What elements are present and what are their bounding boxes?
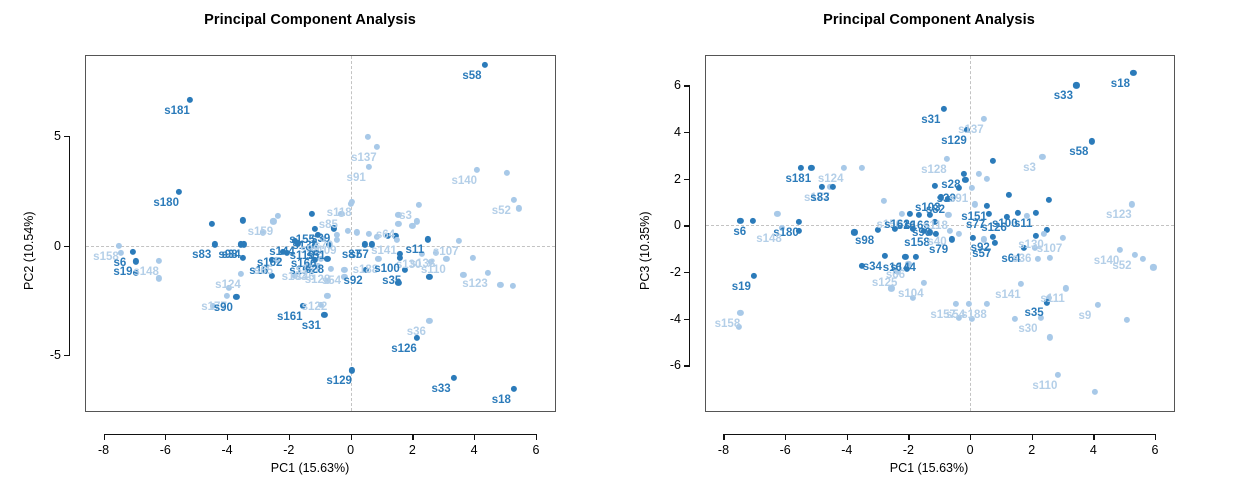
point-label: s58 <box>1069 146 1088 158</box>
x-axis-tick-label: 2 <box>409 443 416 457</box>
data-point-unlabeled <box>1005 192 1011 198</box>
x-axis-tick-label: 4 <box>1090 443 1097 457</box>
data-point <box>882 253 888 259</box>
point-label: s180 <box>153 197 179 209</box>
data-point-unlabeled <box>737 218 743 224</box>
point-label: s65 <box>254 265 273 277</box>
point-label: s34 <box>221 249 240 261</box>
data-point <box>511 196 517 202</box>
data-point-unlabeled <box>1047 334 1053 340</box>
data-point <box>456 238 462 244</box>
y-axis-tick <box>684 179 690 180</box>
reference-line-x0 <box>970 56 971 411</box>
point-label: s181 <box>164 105 190 117</box>
data-point <box>1095 302 1101 308</box>
point-label: s141 <box>995 289 1021 301</box>
x-axis-tick <box>536 434 537 440</box>
x-axis-tick <box>227 434 228 440</box>
y-axis-tick <box>64 355 70 356</box>
data-point-unlabeled <box>497 282 503 288</box>
data-point-unlabeled <box>209 221 215 227</box>
x-axis-tick <box>847 434 848 440</box>
data-point-unlabeled <box>1046 197 1052 203</box>
point-label: s91 <box>347 172 366 184</box>
plot-area-left: s58s181s137s91s140s180s118s3s52s85s159s6… <box>86 56 555 411</box>
data-point <box>1015 209 1021 215</box>
point-label: s31 <box>302 320 321 332</box>
data-point-unlabeled <box>972 201 978 207</box>
data-point <box>270 218 276 224</box>
x-axis-tick-label: -8 <box>98 443 109 457</box>
data-point <box>241 241 247 247</box>
data-point-unlabeled <box>1150 264 1156 270</box>
x-axis-tick-label: 2 <box>1028 443 1035 457</box>
point-label: s110 <box>421 264 446 276</box>
data-point-unlabeled <box>881 198 887 204</box>
x-axis-tick <box>289 434 290 440</box>
data-point <box>968 185 974 191</box>
data-point <box>1062 285 1068 291</box>
data-point <box>374 144 380 150</box>
data-point <box>902 254 908 260</box>
y-axis-tick <box>684 85 690 86</box>
point-label: s122 <box>302 301 328 313</box>
data-point-unlabeled <box>470 254 476 260</box>
data-point <box>841 165 847 171</box>
data-point <box>130 249 136 255</box>
y-axis-tick-label: 0 <box>649 218 681 232</box>
y-axis-tick-label: -5 <box>29 348 61 362</box>
point-label: s110 <box>1032 380 1057 392</box>
point-label: s57 <box>972 248 991 260</box>
point-label: s124 <box>215 279 241 291</box>
x-axis-tick-label: -6 <box>160 443 171 457</box>
data-point <box>945 212 951 218</box>
y-axis-tick <box>684 365 690 366</box>
point-label: s82 <box>926 204 945 216</box>
point-label: s36 <box>1012 253 1031 265</box>
point-label: s148 <box>756 233 782 245</box>
data-point <box>944 156 950 162</box>
data-point <box>366 164 372 170</box>
data-point <box>921 279 927 285</box>
data-point-unlabeled <box>932 183 938 189</box>
pca-panel-pc1-pc3: Principal Component Analysis PC3 (10.35%… <box>620 0 1238 500</box>
data-point <box>482 62 488 68</box>
data-point <box>116 242 122 248</box>
point-label: s19 <box>732 281 751 293</box>
data-point-unlabeled <box>1047 255 1053 261</box>
data-point-unlabeled <box>510 283 516 289</box>
x-axis-tick <box>351 434 352 440</box>
point-label: s79 <box>929 244 948 256</box>
y-axis-tick-label: 6 <box>649 78 681 92</box>
y-axis-tick <box>684 132 690 133</box>
point-label: s129 <box>941 135 967 147</box>
data-point <box>1129 201 1135 207</box>
data-point-unlabeled <box>239 217 245 223</box>
panel-title-left: Principal Component Analysis <box>0 12 620 28</box>
data-point-unlabeled <box>275 213 281 219</box>
y-axis-tick <box>64 246 70 247</box>
point-label: s58 <box>462 70 481 82</box>
y-axis-tick-label: 4 <box>649 125 681 139</box>
x-axis-tick <box>785 434 786 440</box>
x-axis-tick-label: -6 <box>780 443 791 457</box>
data-point <box>176 189 182 195</box>
data-point <box>1018 281 1024 287</box>
data-point <box>796 219 802 225</box>
data-point <box>750 218 756 224</box>
data-point-unlabeled <box>990 158 996 164</box>
x-axis-title-right: PC1 (15.63%) <box>620 461 1238 475</box>
point-label: s28 <box>941 179 960 191</box>
data-point <box>941 106 947 112</box>
data-point <box>1089 138 1095 144</box>
point-label: s35 <box>382 275 401 287</box>
data-point-unlabeled <box>409 223 415 229</box>
point-label: s159 <box>248 226 274 238</box>
point-label: s54 <box>322 275 341 287</box>
data-point-unlabeled <box>976 171 982 177</box>
x-axis-tick <box>474 434 475 440</box>
point-label: s188 <box>961 309 987 321</box>
data-point <box>953 300 959 306</box>
data-point <box>485 270 491 276</box>
data-point <box>751 272 757 278</box>
data-point <box>1130 69 1136 75</box>
point-label: s83 <box>192 249 211 261</box>
data-point <box>1073 82 1079 88</box>
point-label: s137 <box>958 124 984 136</box>
point-label: s137 <box>351 152 377 164</box>
data-point <box>737 310 743 316</box>
point-label: s140 <box>451 175 477 187</box>
x-axis-tick <box>1093 434 1094 440</box>
point-label: s107 <box>1037 243 1063 255</box>
data-point <box>808 165 814 171</box>
data-point <box>324 293 330 299</box>
y-axis-tick-label: 2 <box>649 172 681 186</box>
data-point <box>1059 235 1065 241</box>
data-point-unlabeled <box>774 211 780 217</box>
y-axis-tick <box>684 319 690 320</box>
data-point-unlabeled <box>1092 389 1098 395</box>
x-axis-tick-label: -4 <box>841 443 852 457</box>
point-label: s126 <box>391 343 417 355</box>
x-axis-tick-label: 6 <box>1151 443 1158 457</box>
point-label: s90 <box>214 302 233 314</box>
point-label: s6 <box>733 226 746 238</box>
point-label: s34 <box>863 261 882 273</box>
data-point-unlabeled <box>1035 256 1041 262</box>
point-label: s9 <box>1079 310 1092 322</box>
data-point-unlabeled <box>970 235 976 241</box>
point-label: s123 <box>462 278 488 290</box>
data-point <box>1039 153 1045 159</box>
data-point-unlabeled <box>859 165 865 171</box>
data-point-unlabeled <box>516 205 522 211</box>
y-axis-tick-label: 5 <box>29 129 61 143</box>
point-label: s19 <box>113 266 132 278</box>
y-axis-tick <box>684 272 690 273</box>
y-axis-tick-label: -2 <box>649 265 681 279</box>
data-point-unlabeled <box>354 229 360 235</box>
point-label: s126 <box>981 222 1007 234</box>
data-point <box>233 294 239 300</box>
point-label: s57 <box>350 249 369 261</box>
data-point-unlabeled <box>984 176 990 182</box>
x-axis-tick <box>1155 434 1156 440</box>
x-axis-line <box>723 434 1154 435</box>
x-axis-tick-label: -2 <box>903 443 914 457</box>
point-label: s124 <box>818 173 844 185</box>
data-point <box>156 258 162 264</box>
data-point-unlabeled <box>1124 317 1130 323</box>
point-label: s128 <box>921 164 947 176</box>
point-label: s158 <box>904 237 930 249</box>
y-axis-tick-label: -6 <box>649 358 681 372</box>
data-point <box>1132 251 1138 257</box>
point-label: s181 <box>786 173 812 185</box>
data-point-unlabeled <box>1012 316 1018 322</box>
data-point <box>327 265 333 271</box>
data-point-unlabeled <box>365 134 371 140</box>
point-label: s111 <box>1040 293 1064 305</box>
y-axis-tick <box>64 136 70 137</box>
point-label: s64 <box>376 229 395 241</box>
y-axis-tick-label: -4 <box>649 312 681 326</box>
x-axis-tick-label: -4 <box>222 443 233 457</box>
data-point <box>948 236 954 242</box>
point-label: s30 <box>1018 323 1037 335</box>
figure-canvas: Principal Component Analysis PC2 (10.54%… <box>0 0 1238 500</box>
data-point <box>212 241 218 247</box>
data-point <box>425 236 431 242</box>
x-axis-tick-label: 4 <box>471 443 478 457</box>
x-axis-tick <box>723 434 724 440</box>
data-point <box>349 199 355 205</box>
data-point <box>1041 230 1047 236</box>
data-point-unlabeled <box>962 177 968 183</box>
data-point <box>451 375 457 381</box>
data-point <box>981 116 987 122</box>
data-point <box>899 211 905 217</box>
data-point <box>341 267 347 273</box>
x-axis-tick <box>908 434 909 440</box>
point-label: s3 <box>1023 162 1036 174</box>
x-axis-tick-label: 0 <box>967 443 974 457</box>
pca-panel-pc1-pc2: Principal Component Analysis PC2 (10.54%… <box>0 0 620 500</box>
data-point <box>133 258 139 264</box>
point-label: s123 <box>1106 209 1132 221</box>
data-point <box>992 240 998 246</box>
point-label: s18 <box>492 394 511 406</box>
point-label: s36 <box>407 326 426 338</box>
y-axis-tick <box>684 225 690 226</box>
data-point-unlabeled <box>1140 256 1146 262</box>
data-point <box>907 211 913 217</box>
point-label: s161 <box>277 311 303 323</box>
point-label: s92 <box>343 275 362 287</box>
data-point-unlabeled <box>366 230 372 236</box>
data-point <box>187 97 193 103</box>
data-point-unlabeled <box>503 170 509 176</box>
point-label: s148 <box>133 266 159 278</box>
point-label: s85 <box>319 219 338 231</box>
data-point <box>334 237 340 243</box>
data-point <box>913 254 919 260</box>
point-label: s104 <box>898 288 924 300</box>
data-point <box>426 318 432 324</box>
x-axis-tick <box>165 434 166 440</box>
data-point <box>361 241 367 247</box>
point-label: s91 <box>949 193 968 205</box>
plot-area-right: s18s33s31s129s137s58s3s181s124s128s28s17… <box>706 56 1174 411</box>
data-point <box>511 386 517 392</box>
data-point <box>984 202 990 208</box>
x-axis-tick <box>970 434 971 440</box>
point-label: s52 <box>1112 260 1131 272</box>
point-label: s83 <box>810 192 829 204</box>
x-axis-tick-label: 6 <box>532 443 539 457</box>
point-label: s158 <box>715 318 741 330</box>
data-point <box>415 202 421 208</box>
data-point <box>1033 209 1039 215</box>
point-label: s100 <box>374 263 400 275</box>
point-label: s3 <box>399 210 412 222</box>
point-label: s18 <box>1111 78 1130 90</box>
x-axis-tick-label: -2 <box>283 443 294 457</box>
x-axis-tick <box>412 434 413 440</box>
data-point <box>1116 247 1122 253</box>
data-point <box>474 167 480 173</box>
point-label: s31 <box>921 114 940 126</box>
data-point-unlabeled <box>797 165 803 171</box>
x-axis-title-left: PC1 (15.63%) <box>0 461 620 475</box>
point-label: s35 <box>1025 307 1044 319</box>
point-label: s11 <box>406 244 425 256</box>
point-label: s52 <box>492 205 511 217</box>
data-point <box>224 293 230 299</box>
x-axis-tick <box>1032 434 1033 440</box>
point-label: s141 <box>371 245 397 257</box>
y-axis-tick-label: 0 <box>29 239 61 253</box>
point-label: s33 <box>431 383 450 395</box>
point-label: s107 <box>433 246 459 258</box>
x-axis-line <box>104 434 536 435</box>
point-label: s11 <box>1014 218 1033 230</box>
data-point-unlabeled <box>956 230 962 236</box>
point-label: s98 <box>855 235 874 247</box>
x-axis-tick-label: -8 <box>718 443 729 457</box>
point-label: s129 <box>326 375 352 387</box>
point-label: s33 <box>1054 90 1073 102</box>
x-axis-tick <box>104 434 105 440</box>
data-point <box>984 300 990 306</box>
point-label: s118 <box>327 207 352 219</box>
x-axis-tick-label: 0 <box>347 443 354 457</box>
data-point <box>238 271 244 277</box>
panel-title-right: Principal Component Analysis <box>620 12 1238 28</box>
data-point <box>1055 372 1061 378</box>
point-label: s125 <box>872 277 898 289</box>
reference-line-x0 <box>351 56 352 411</box>
data-point <box>349 367 355 373</box>
data-point-unlabeled <box>309 211 315 217</box>
